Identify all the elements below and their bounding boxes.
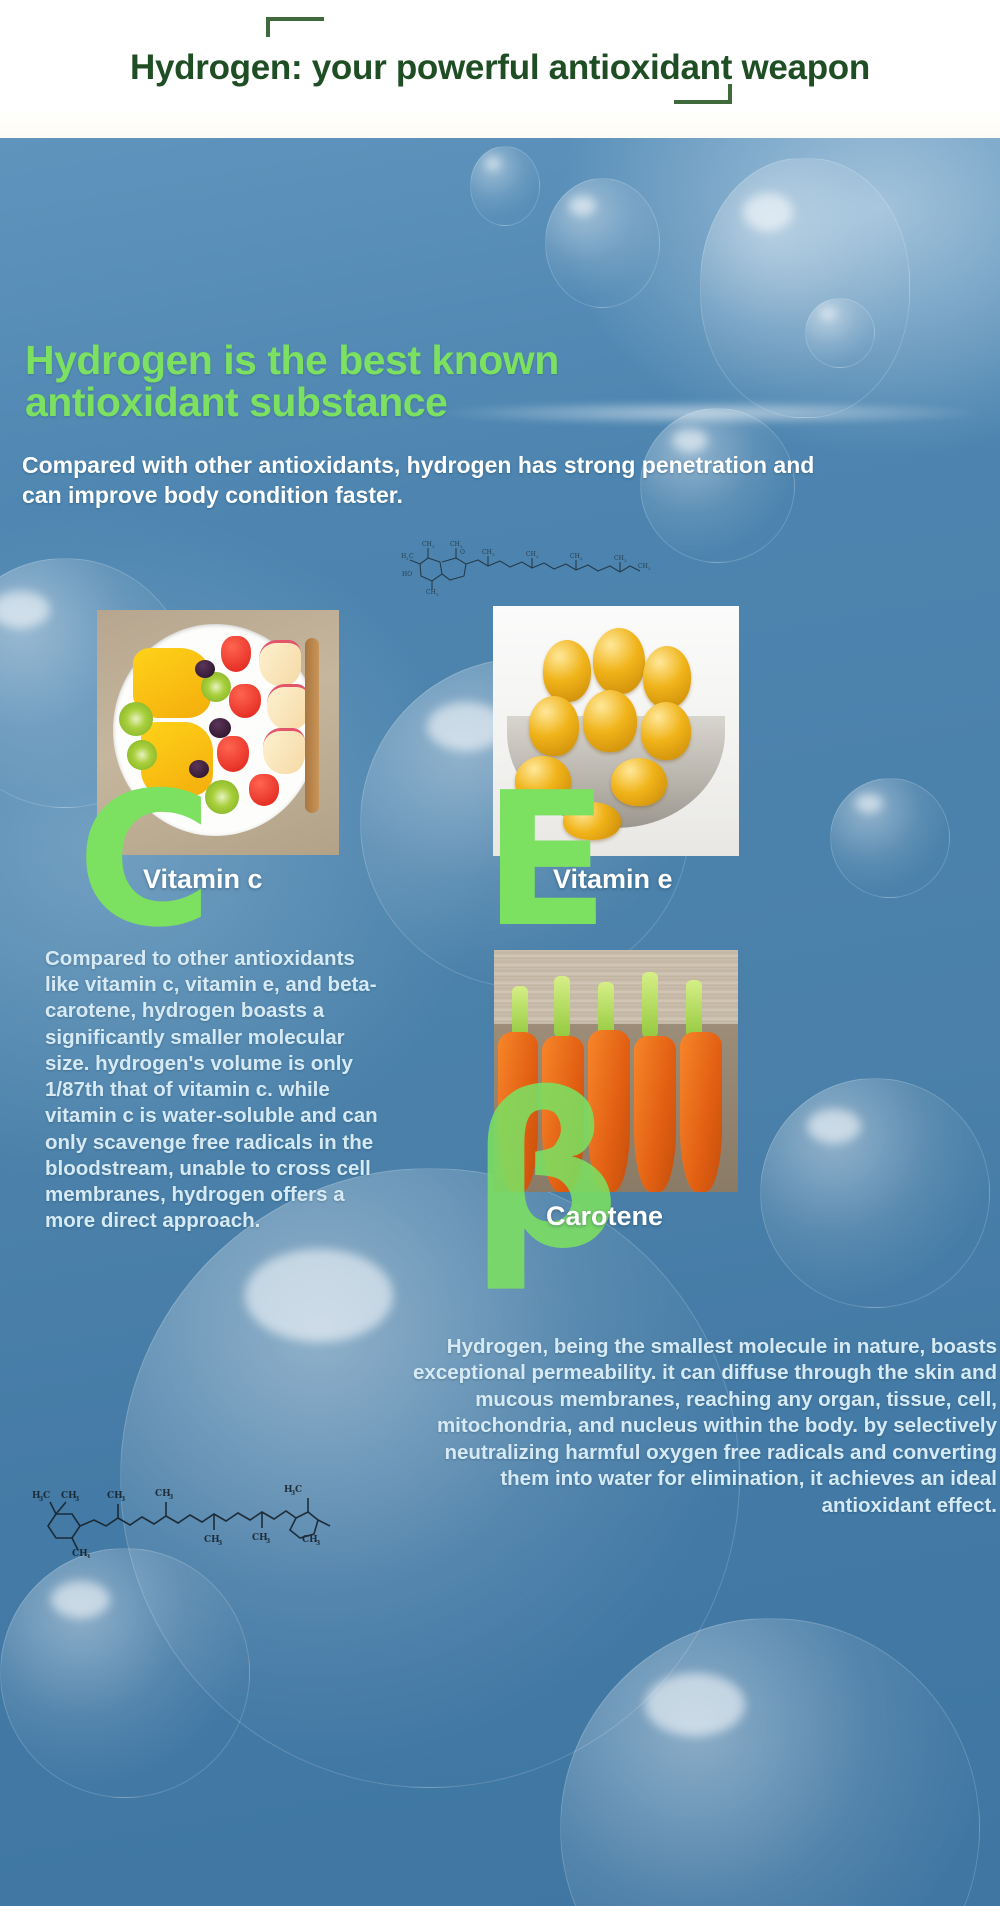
svg-text:CH: CH	[450, 541, 460, 548]
tocopherol-molecule-diagram: H3C CH3 CH3 CH3 CH3 CH3 CH3 CH3 CH3 HO O	[400, 536, 660, 596]
bubble-decoration	[805, 298, 875, 368]
strawberry	[217, 736, 249, 772]
fork-utensil	[305, 638, 319, 813]
infographic-page: Hydrogen: your powerful antioxidant weap…	[0, 0, 1000, 1906]
svg-text:3: 3	[436, 592, 439, 596]
softgel-capsule	[529, 696, 579, 756]
strawberry	[249, 774, 279, 806]
svg-text:CH: CH	[426, 589, 436, 596]
svg-text:C: C	[43, 1491, 50, 1501]
bubble-decoration	[760, 1078, 990, 1308]
svg-text:3: 3	[316, 1540, 320, 1547]
vitamin-e-label: Vitamin e	[553, 864, 673, 895]
svg-text:3: 3	[75, 1496, 79, 1503]
svg-text:HO: HO	[402, 571, 412, 578]
carrot-greens	[642, 972, 658, 1038]
svg-text:C: C	[295, 1485, 302, 1495]
vitamin-e-badge-letter: E	[483, 768, 609, 953]
carrot	[634, 1036, 676, 1192]
svg-text:C: C	[409, 553, 414, 560]
carotene-label: Carotene	[546, 1201, 663, 1232]
softgel-capsule	[593, 628, 645, 694]
svg-text:3: 3	[266, 1538, 270, 1545]
bubble-decoration	[830, 778, 950, 898]
vitamin-c-label: Vitamin c	[143, 864, 263, 895]
svg-text:3: 3	[624, 558, 627, 563]
softgel-capsule	[611, 758, 667, 806]
bubble-decoration	[545, 178, 660, 308]
svg-text:3: 3	[536, 554, 539, 559]
carrot-greens	[554, 976, 570, 1038]
svg-text:CH: CH	[526, 551, 536, 558]
svg-text:O: O	[460, 549, 465, 556]
vitamin-c-badge-letter: C	[77, 768, 213, 953]
carrot	[680, 1032, 722, 1192]
softgel-capsule	[643, 646, 691, 708]
svg-text:3: 3	[492, 552, 495, 557]
strawberry	[221, 636, 251, 672]
apple-slice	[267, 684, 309, 730]
carrot-greens	[686, 980, 702, 1038]
carrot-greens	[512, 986, 528, 1038]
blackberry	[209, 718, 231, 738]
apple-slice	[259, 640, 301, 686]
svg-text:3: 3	[580, 556, 583, 561]
svg-text:CH: CH	[614, 555, 624, 562]
hero-subheading: Compared with other antioxidants, hydrog…	[22, 451, 822, 511]
softgel-capsule	[641, 702, 691, 760]
right-body-paragraph: Hydrogen, being the smallest molecule in…	[405, 1334, 1000, 1519]
svg-text:3: 3	[432, 544, 435, 549]
bubble-decoration	[0, 1548, 250, 1798]
beta-carotene-molecule-diagram: H3C CH3 CH3 CH3 CH3 CH3 CH3 H3C CH3	[28, 1468, 338, 1558]
svg-text:CH: CH	[482, 549, 492, 556]
svg-text:CH: CH	[422, 541, 432, 548]
svg-text:3: 3	[169, 1494, 173, 1501]
softgel-capsule	[583, 690, 637, 752]
bracket-top-left-icon	[266, 17, 324, 37]
left-body-paragraph: Compared to other antioxidants like vita…	[45, 946, 390, 1235]
main-content-panel: Hydrogen is the best known antioxidant s…	[0, 138, 1000, 1906]
page-header: Hydrogen: your powerful antioxidant weap…	[0, 0, 1000, 138]
svg-text:3: 3	[648, 566, 651, 571]
bubble-decoration	[560, 1618, 980, 1906]
svg-text:3: 3	[121, 1496, 125, 1503]
strawberry	[229, 684, 261, 718]
blackberry	[195, 660, 215, 678]
softgel-capsule	[543, 640, 591, 702]
svg-text:3: 3	[86, 1554, 90, 1558]
kiwi-slice	[119, 702, 153, 736]
svg-text:CH: CH	[638, 563, 648, 570]
apple-slice	[263, 728, 305, 774]
page-title: Hydrogen: your powerful antioxidant weap…	[0, 48, 1000, 88]
svg-text:3: 3	[218, 1540, 222, 1547]
svg-text:CH: CH	[570, 553, 580, 560]
hero-heading: Hydrogen is the best known antioxidant s…	[25, 340, 685, 424]
bubble-decoration	[700, 158, 910, 418]
carotene-badge-letter: β	[470, 1068, 620, 1278]
bubble-decoration	[470, 146, 540, 226]
